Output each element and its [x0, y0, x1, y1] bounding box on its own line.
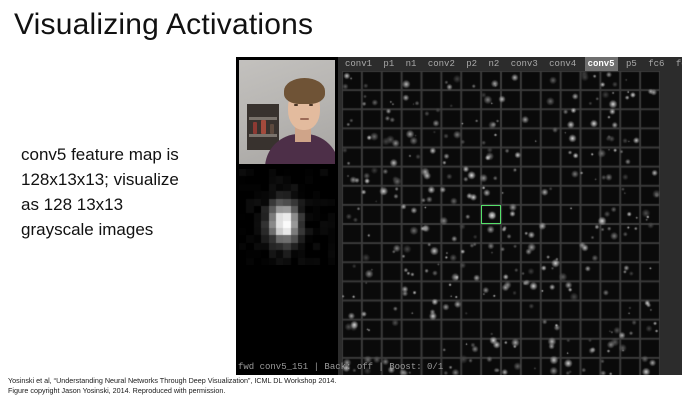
feature-map-grid-canvas[interactable]: [342, 71, 660, 375]
webcam-shelf-object: [253, 122, 257, 134]
deep-visualization-toolbox-screenshot: conv1 p1 n1 conv2 p2 n2 conv3 conv4 conv…: [236, 57, 682, 375]
layer-tab-p2[interactable]: p2: [463, 57, 480, 71]
layer-tab-fc7[interactable]: fc7: [673, 57, 682, 71]
layer-tab-conv1[interactable]: conv1: [342, 57, 375, 71]
layer-tab-n2[interactable]: n2: [486, 57, 503, 71]
slide-body-text: conv5 feature map is 128x13x13; visualiz…: [21, 142, 236, 242]
citation-footer: Yosinski et al, “Understanding Neural Ne…: [8, 376, 508, 396]
toolbox-left-column: [236, 57, 338, 375]
webcam-input-frame: [239, 60, 335, 164]
webcam-person-mouth: [300, 118, 309, 120]
layer-tab-conv2[interactable]: conv2: [425, 57, 458, 71]
layer-selector-bar[interactable]: conv1 p1 n1 conv2 p2 n2 conv3 conv4 conv…: [342, 57, 682, 71]
status-bar: fwd conv5_151 | Back: off | Boost: 0/1: [238, 361, 443, 373]
layer-tab-fc6[interactable]: fc6: [645, 57, 667, 71]
conv5-feature-map-grid[interactable]: [342, 71, 660, 375]
body-line: conv5 feature map is: [21, 142, 236, 167]
selected-unit-activation-zoom: [239, 169, 335, 265]
selected-unit-activation-canvas: [239, 169, 335, 265]
layer-tab-conv5[interactable]: conv5: [585, 57, 618, 71]
body-line: 128x13x13; visualize: [21, 167, 236, 192]
layer-tab-p1[interactable]: p1: [380, 57, 397, 71]
webcam-person-hair: [284, 78, 325, 104]
webcam-person-eye: [309, 104, 313, 106]
body-line: as 128 13x13: [21, 192, 236, 217]
layer-tab-conv4[interactable]: conv4: [546, 57, 579, 71]
page-title: Visualizing Activations: [14, 8, 313, 42]
layer-tab-p5[interactable]: p5: [623, 57, 640, 71]
webcam-shelf-object: [270, 124, 274, 134]
citation-line-2: Figure copyright Jason Yosinski, 2014. R…: [8, 386, 508, 396]
webcam-person-eye: [294, 104, 298, 106]
citation-line-1: Yosinski et al, “Understanding Neural Ne…: [8, 376, 508, 386]
layer-tab-conv3[interactable]: conv3: [508, 57, 541, 71]
layer-tab-n1[interactable]: n1: [403, 57, 420, 71]
webcam-shelf-object: [261, 120, 266, 134]
body-line: grayscale images: [21, 217, 236, 242]
